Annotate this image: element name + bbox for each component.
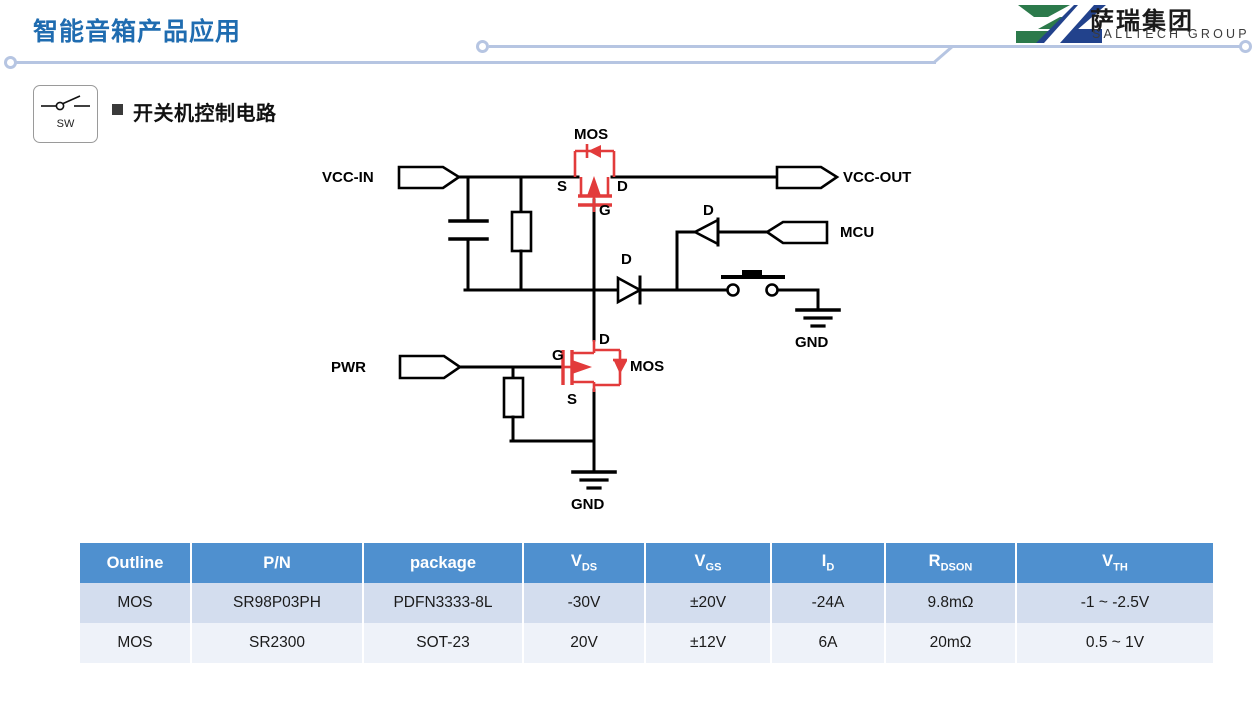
label-bot-s: S: [567, 391, 577, 408]
label-top-d: D: [617, 178, 628, 195]
table-cell: ±12V: [645, 623, 771, 663]
table-cell: 20mΩ: [885, 623, 1016, 663]
label-vcc-in: VCC-IN: [322, 169, 374, 186]
table-cell: PDFN3333-8L: [363, 583, 523, 623]
header-label: V: [571, 552, 582, 570]
label-bot-g: G: [552, 347, 564, 364]
tag-vcc-out: [777, 167, 837, 188]
table-row: MOS SR98P03PH PDFN3333-8L -30V ±20V -24A…: [80, 583, 1213, 623]
label-diode-mcu: D: [703, 202, 714, 219]
diode-mid: [618, 278, 640, 302]
tag-mcu: [767, 222, 827, 243]
table-header-cell: Outline: [80, 543, 191, 583]
table-cell: 9.8mΩ: [885, 583, 1016, 623]
table-cell: 6A: [771, 623, 885, 663]
table-cell: SR2300: [191, 623, 363, 663]
header-sub: TH: [1113, 562, 1128, 574]
table-cell: 0.5 ~ 1V: [1016, 623, 1213, 663]
pushbutton-cap: [742, 270, 762, 276]
table-header-cell: ID: [771, 543, 885, 583]
header-label: P/N: [263, 554, 291, 572]
mosfet-lower: [563, 340, 627, 392]
header-label: V: [1102, 552, 1113, 570]
table-cell: 20V: [523, 623, 645, 663]
pushbutton-contact-right: [767, 285, 778, 296]
table-header-cell: P/N: [191, 543, 363, 583]
table-cell: ±20V: [645, 583, 771, 623]
tag-vcc-in: [399, 167, 459, 188]
header-sub: DS: [582, 562, 597, 574]
table-header-cell: RDSON: [885, 543, 1016, 583]
table-cell: -30V: [523, 583, 645, 623]
label-gnd-right: GND: [795, 334, 829, 351]
header-label: package: [410, 554, 476, 572]
table-cell: MOS: [80, 583, 191, 623]
table-cell: MOS: [80, 623, 191, 663]
header-sub: DSON: [941, 562, 973, 574]
header-sub: GS: [706, 562, 722, 574]
label-mos-top: MOS: [574, 126, 608, 143]
header-label: R: [929, 552, 941, 570]
label-diode-mid: D: [621, 251, 632, 268]
header-sub: D: [826, 562, 834, 574]
table-header-cell: VDS: [523, 543, 645, 583]
label-pwr: PWR: [331, 359, 366, 376]
label-mos-bottom: MOS: [630, 358, 664, 375]
table-header-cell: package: [363, 543, 523, 583]
table-header-cell: VTH: [1016, 543, 1213, 583]
label-mcu: MCU: [840, 224, 874, 241]
pushbutton-contact-left: [728, 285, 739, 296]
diode-mcu: [695, 220, 718, 244]
label-top-g: G: [599, 202, 611, 219]
label-bot-d: D: [599, 331, 610, 348]
tag-pwr: [400, 356, 460, 378]
table-row: MOS SR2300 SOT-23 20V ±12V 6A 20mΩ 0.5 ~…: [80, 623, 1213, 663]
table-cell: -24A: [771, 583, 885, 623]
header-label: Outline: [107, 554, 164, 572]
table-cell: SR98P03PH: [191, 583, 363, 623]
table-cell: -1 ~ -2.5V: [1016, 583, 1213, 623]
table-cell: SOT-23: [363, 623, 523, 663]
label-gnd-bottom: GND: [571, 496, 605, 513]
header-label: V: [695, 552, 706, 570]
label-top-s: S: [557, 178, 567, 195]
label-vcc-out: VCC-OUT: [843, 169, 911, 186]
spec-table: Outline P/N package VDS VGS ID RDSON VTH…: [80, 543, 1213, 663]
table-header-row: Outline P/N package VDS VGS ID RDSON VTH: [80, 543, 1213, 583]
table-header-cell: VGS: [645, 543, 771, 583]
